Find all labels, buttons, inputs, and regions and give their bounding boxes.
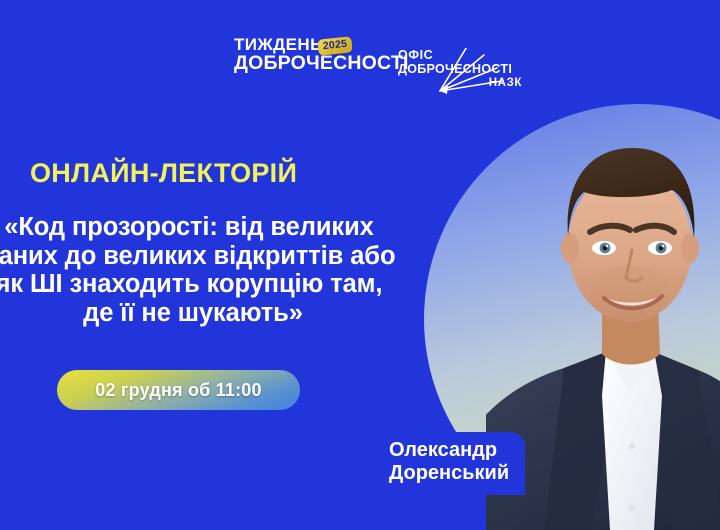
event-datetime-label: 02 грудня об 11:00 <box>95 380 261 401</box>
integrity-week-logo: ТИЖДЕНЬ ДОБРОЧЕСНОСТІ 2025 <box>234 36 384 73</box>
promo-banner: ТИЖДЕНЬ ДОБРОЧЕСНОСТІ 2025 ОФІС ДОБРОЧЕС… <box>0 0 720 530</box>
integrity-week-logo-line2: ДОБРОЧЕСНОСТІ <box>234 53 384 73</box>
event-title-line-2: даних до великих відкриттів або <box>0 242 424 271</box>
speaker-last-name: Доренський <box>389 462 509 486</box>
event-title-line-3: як ШІ знаходить корупцію там, <box>0 270 424 299</box>
event-format-kicker: ОНЛАЙН-ЛЕКТОРІЙ <box>30 160 297 187</box>
nazk-office-logo: ОФІС ДОБРОЧЕСНОСТІ НАЗК <box>398 48 528 89</box>
event-title-line-1: «Код прозорості: від великих <box>0 213 424 242</box>
logo-bar: ТИЖДЕНЬ ДОБРОЧЕСНОСТІ 2025 ОФІС ДОБРОЧЕС… <box>0 26 720 100</box>
event-datetime-badge: 02 грудня об 11:00 <box>57 370 300 410</box>
speaker-first-name: Олександр <box>389 439 509 463</box>
speaker-head <box>561 148 699 322</box>
speaker-name-plate: Олександр Доренський <box>355 432 525 495</box>
integrity-week-logo-line1: ТИЖДЕНЬ <box>234 36 384 53</box>
speaker-shirt <box>602 342 662 530</box>
event-title: «Код прозорості: від великих даних до ве… <box>0 213 424 327</box>
event-title-line-4: де її не шукають» <box>0 299 424 328</box>
